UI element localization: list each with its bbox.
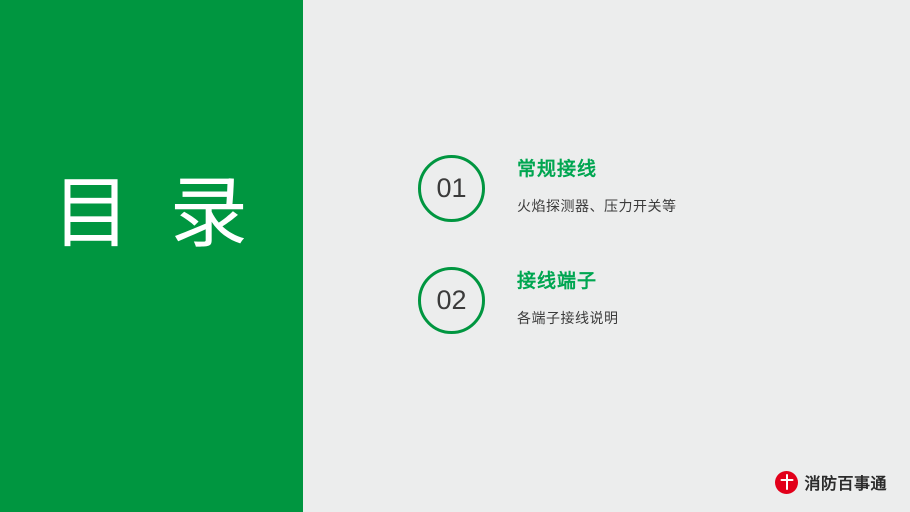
toc-subtitle-02: 各端子接线说明 <box>517 309 619 327</box>
left-green-panel: 目 录 <box>0 0 303 512</box>
page-title: 目 录 <box>40 175 270 253</box>
toc-text-block-01: 常规接线 火焰探测器、压力开关等 <box>517 155 677 215</box>
toc-subtitle-01: 火焰探测器、压力开关等 <box>517 197 677 215</box>
toc-heading-02: 接线端子 <box>517 271 619 294</box>
brand-logo-text: 消防百事通 <box>804 470 887 494</box>
toc-text-block-02: 接线端子 各端子接线说明 <box>517 267 619 327</box>
slide-canvas: 目 录 01 常规接线 火焰探测器、压力开关等 02 接线端子 各端子接线说明 … <box>0 0 910 512</box>
brand-logo: 消防百事通 <box>775 470 887 494</box>
toc-number-badge-01: 01 <box>418 155 485 222</box>
toc-heading-01: 常规接线 <box>517 159 677 182</box>
toc-entry-01[interactable]: 01 常规接线 火焰探测器、压力开关等 <box>418 155 677 222</box>
toc-entry-02[interactable]: 02 接线端子 各端子接线说明 <box>418 267 619 334</box>
toc-number-badge-02: 02 <box>418 267 485 334</box>
right-content-panel: 01 常规接线 火焰探测器、压力开关等 02 接线端子 各端子接线说明 消防百事… <box>303 0 910 512</box>
fire-cross-badge-icon <box>775 471 798 494</box>
